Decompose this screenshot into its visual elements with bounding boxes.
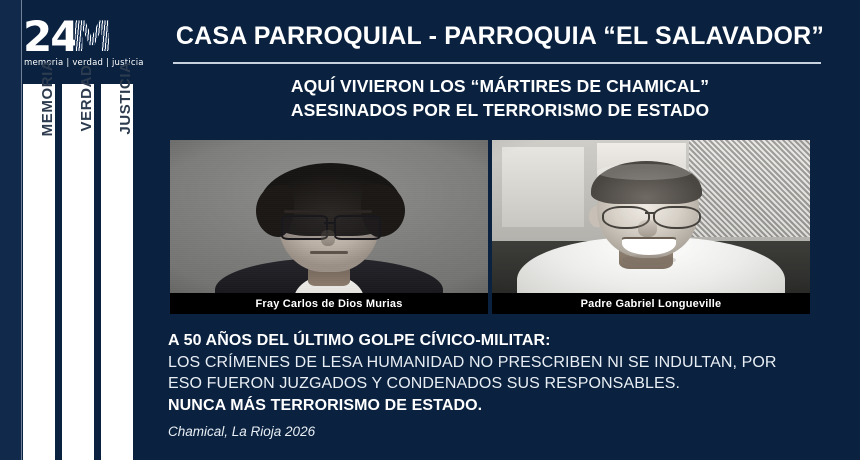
portrait-photo-1-caption: Fray Carlos de Dios Murias	[170, 293, 488, 314]
strip-justicia-label: JUSTICIA	[117, 61, 134, 134]
portrait-photo-2: Padre Gabriel Longueville	[492, 140, 810, 314]
place-and-year: Chamical, La Rioja 2026	[168, 424, 315, 439]
subtitle-line-1: AQUÍ VIVIERON LOS “MÁRTIRES DE CHAMICAL”	[170, 74, 830, 98]
portrait-photo-2-image	[492, 140, 810, 314]
portrait-photo-1-image	[170, 140, 488, 314]
logo-mark: 24 M	[23, 18, 135, 56]
logo-letter-m: M	[71, 17, 111, 57]
strip-memoria-label: MEMORIA	[39, 60, 56, 137]
left-accent-band	[0, 0, 22, 460]
strip-justicia: JUSTICIA	[101, 84, 133, 460]
portrait-photo-1: Fray Carlos de Dios Murias	[170, 140, 488, 314]
subtitle-line-2: ASESINADOS POR EL TERRORISMO DE ESTADO	[170, 98, 830, 122]
portrait-photo-2-caption: Padre Gabriel Longueville	[492, 293, 810, 314]
body-line-3: ESO FUERON JUZGADOS Y CONDENADOS SUS RES…	[168, 373, 848, 395]
poster-canvas: 24 M memoria | verdad | justicia MEMORIA…	[0, 0, 860, 460]
title-underline	[173, 62, 821, 64]
strip-verdad: VERDAD	[62, 84, 94, 460]
strip-verdad-label: VERDAD	[78, 65, 95, 132]
left-band-divider	[21, 0, 22, 460]
strip-memoria: MEMORIA	[23, 84, 55, 460]
page-subtitle: AQUÍ VIVIERON LOS “MÁRTIRES DE CHAMICAL”…	[170, 74, 830, 122]
body-text-block: A 50 AÑOS DEL ÚLTIMO GOLPE CÍVICO-MILITA…	[168, 330, 848, 416]
body-line-2: LOS CRÍMENES DE LESA HUMANIDAD NO PRESCR…	[168, 352, 848, 374]
page-title: CASA PARROQUIAL - PARROQUIA “EL SALAVADO…	[170, 22, 830, 51]
logo-number: 24	[23, 17, 77, 57]
body-line-4: NUNCA MÁS TERRORISMO DE ESTADO.	[168, 395, 848, 417]
body-line-1: A 50 AÑOS DEL ÚLTIMO GOLPE CÍVICO-MILITA…	[168, 330, 848, 352]
